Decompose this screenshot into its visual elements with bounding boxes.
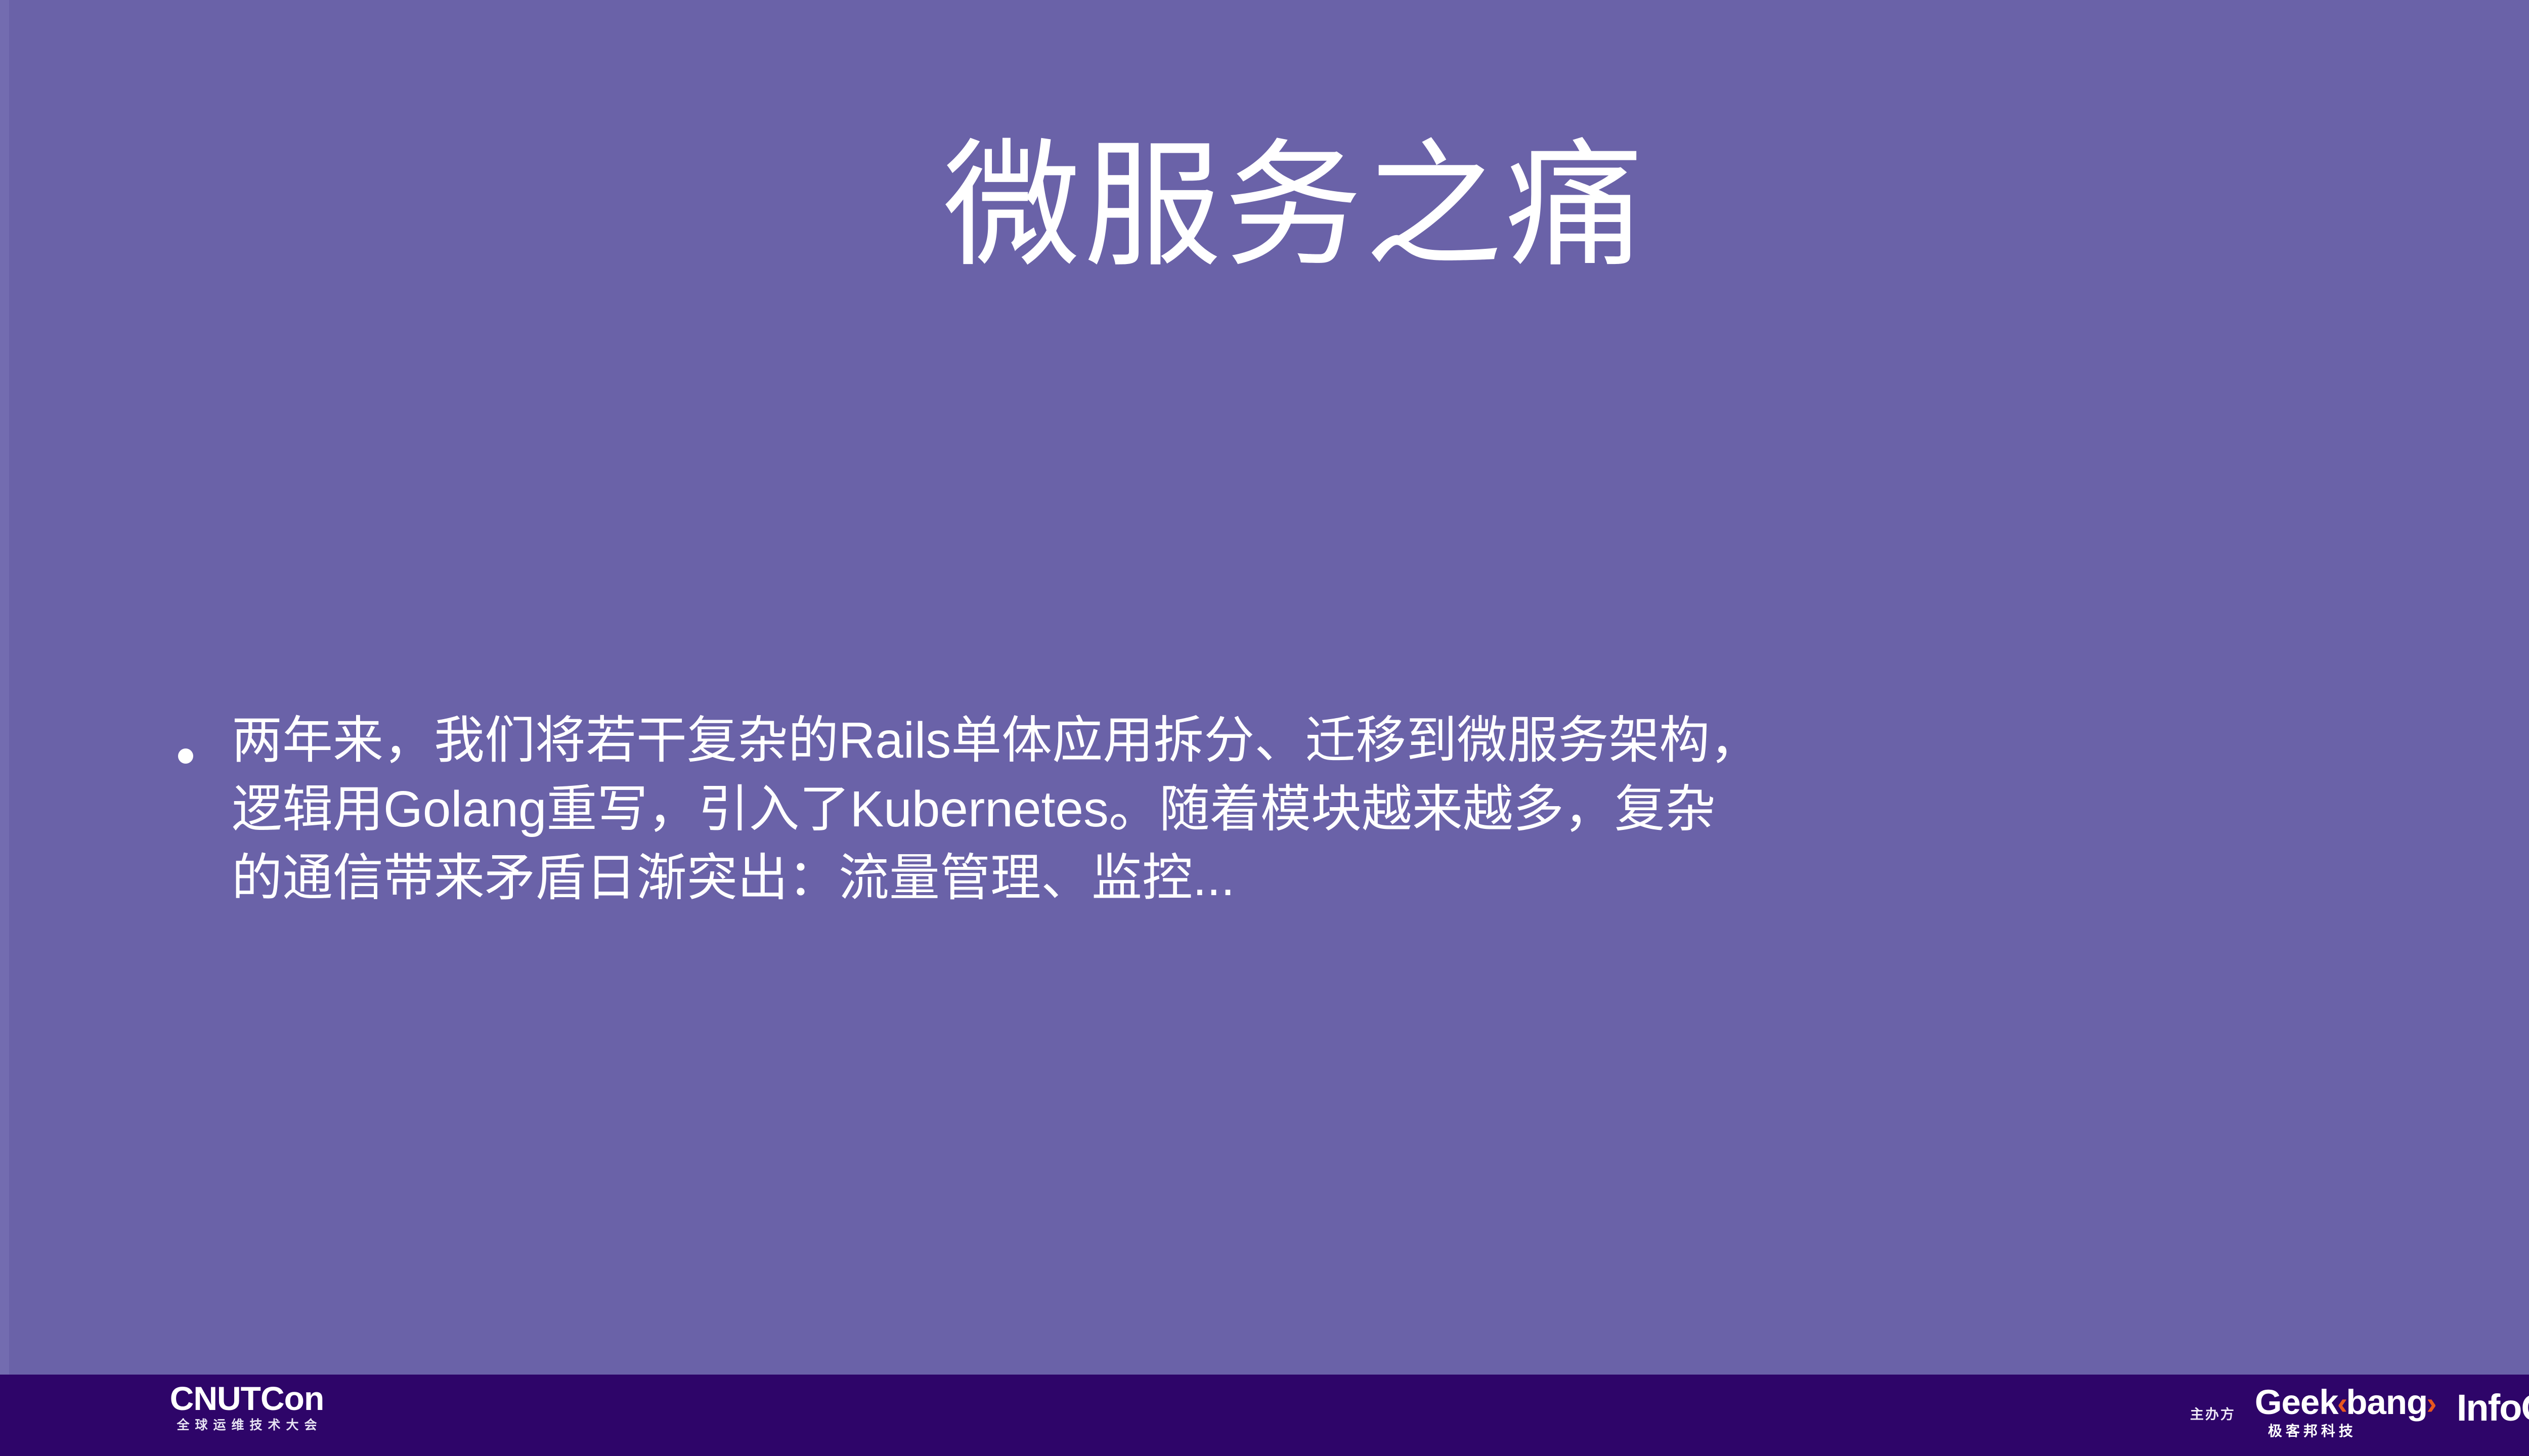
body-text-line: 两年来，我们将若干复杂的Rails单体应用拆分、迁移到微服务架构， bbox=[232, 706, 2424, 775]
body-text-line: 逻辑用Golang重写，引入了Kubernetes。随着模块越来越多，复杂 bbox=[232, 775, 2424, 844]
cnutcon-wordmark: CNUTCon bbox=[125, 1382, 368, 1415]
geekbang-chinese-name: 极客邦科技 bbox=[2268, 1424, 2435, 1438]
cnutcon-logo: CNUTCon 全球运维技术大会 bbox=[125, 1382, 368, 1432]
body-text-lines: 两年来，我们将若干复杂的Rails单体应用拆分、迁移到微服务架构， 逻辑用Gol… bbox=[232, 706, 2424, 912]
body-text-line: 的通信带来矛盾日渐突出：流量管理、监控... bbox=[232, 844, 2424, 912]
bullet-point-icon bbox=[178, 748, 193, 764]
presentation-slide: 微服务之痛 两年来，我们将若干复杂的Rails单体应用拆分、迁移到微服务架构， … bbox=[0, 0, 2529, 1456]
chevron-right-icon: › bbox=[2426, 1388, 2436, 1420]
slide-title: 微服务之痛 bbox=[0, 129, 2529, 283]
geekbang-text-bang: bang bbox=[2346, 1385, 2427, 1420]
geekbang-logo: Geek ‹ bang › 极客邦科技 bbox=[2255, 1385, 2435, 1438]
infoq-wordmark: InfoQ bbox=[2457, 1389, 2529, 1427]
cnutcon-tagline: 全球运维技术大会 bbox=[125, 1419, 368, 1432]
slide-footer-bar: CNUTCon 全球运维技术大会 主办方 Geek ‹ bang › 极客邦科技… bbox=[0, 1375, 2529, 1456]
geekbang-text-geek: Geek bbox=[2255, 1385, 2338, 1420]
geekbang-wordmark: Geek ‹ bang › bbox=[2255, 1385, 2435, 1420]
sponsor-logos-group: 主办方 Geek ‹ bang › 极客邦科技 InfoQ china bbox=[2190, 1385, 2529, 1438]
host-label: 主办方 bbox=[2190, 1403, 2236, 1423]
infoq-logo: InfoQ china bbox=[2457, 1389, 2529, 1427]
slide-body: 两年来，我们将若干复杂的Rails单体应用拆分、迁移到微服务架构， 逻辑用Gol… bbox=[178, 706, 2424, 912]
